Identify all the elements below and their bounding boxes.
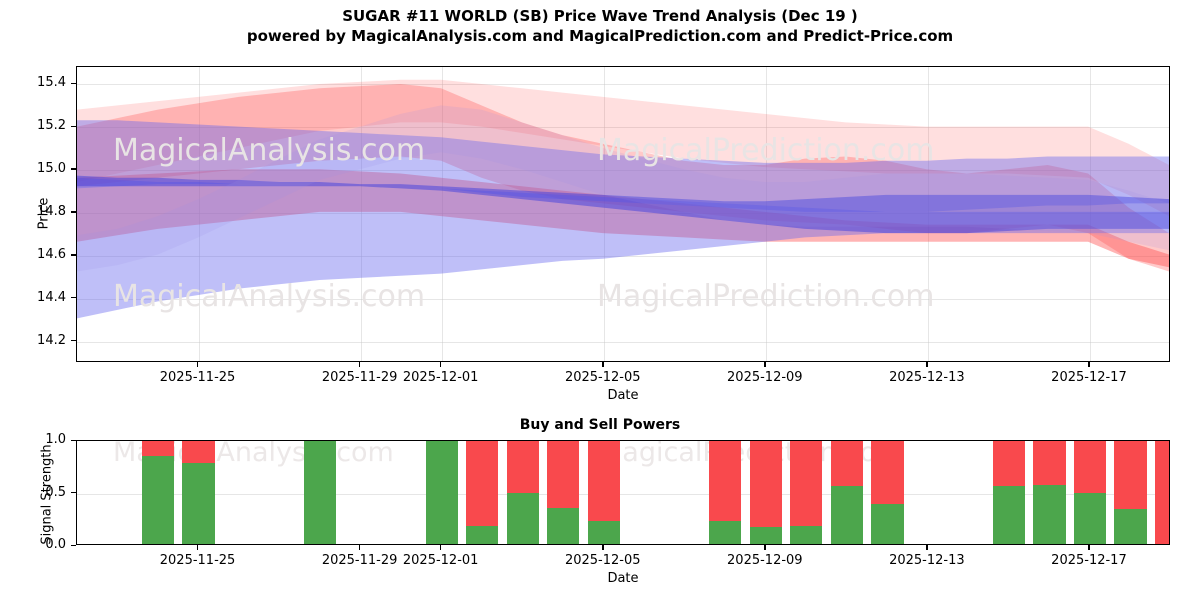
buy-power-segment bbox=[304, 440, 336, 544]
power-bar[interactable] bbox=[871, 440, 903, 544]
x-tick-mark bbox=[359, 362, 360, 367]
power-bar[interactable] bbox=[466, 440, 498, 544]
y-tick-label: 15.2 bbox=[8, 118, 66, 133]
sell-power-segment bbox=[588, 440, 620, 521]
sell-power-segment bbox=[142, 440, 174, 456]
power-bar[interactable] bbox=[750, 440, 782, 544]
power-x-axis-title: Date bbox=[523, 571, 723, 586]
x-tick-mark bbox=[440, 545, 441, 550]
sell-power-segment bbox=[507, 440, 539, 493]
power-bar[interactable] bbox=[709, 440, 741, 544]
y-tick-mark bbox=[71, 340, 76, 341]
sell-power-segment bbox=[871, 440, 903, 504]
y-tick-mark bbox=[71, 492, 76, 493]
x-tick-mark bbox=[197, 545, 198, 550]
y-tick-label: 0.5 bbox=[8, 485, 66, 500]
x-tick-label: 2025-12-05 bbox=[543, 370, 663, 385]
y-tick-label: 1.0 bbox=[8, 432, 66, 447]
y-tick-label: 14.2 bbox=[8, 333, 66, 348]
sell-power-segment bbox=[547, 440, 579, 508]
buy-power-segment bbox=[588, 521, 620, 544]
x-tick-mark bbox=[764, 362, 765, 367]
x-tick-label: 2025-11-25 bbox=[138, 370, 258, 385]
y-tick-mark bbox=[71, 254, 76, 255]
x-tick-mark bbox=[440, 362, 441, 367]
price-y-axis-title: Price bbox=[37, 164, 52, 264]
chart-title: SUGAR #11 WORLD (SB) Price Wave Trend An… bbox=[0, 6, 1200, 26]
price-wave-plot: MagicalAnalysis.com MagicalPrediction.co… bbox=[76, 66, 1170, 362]
x-tick-label: 2025-12-09 bbox=[705, 553, 825, 568]
y-tick-mark bbox=[71, 297, 76, 298]
buy-power-segment bbox=[1033, 485, 1065, 544]
power-bar[interactable] bbox=[1155, 440, 1170, 544]
x-tick-label: 2025-12-17 bbox=[1029, 553, 1149, 568]
power-bar[interactable] bbox=[304, 440, 336, 544]
sell-power-segment bbox=[1114, 440, 1146, 509]
buy-sell-powers-plot: MagicalAnalysis.com MagicalPrediction.co… bbox=[76, 440, 1170, 545]
buy-power-segment bbox=[750, 527, 782, 544]
buy-power-segment bbox=[182, 463, 214, 544]
x-tick-label: 2025-12-13 bbox=[867, 370, 987, 385]
y-tick-mark bbox=[71, 168, 76, 169]
price-x-axis-title: Date bbox=[523, 388, 723, 403]
y-tick-label: 15.4 bbox=[8, 75, 66, 90]
x-tick-mark bbox=[602, 362, 603, 367]
chart-title-block: SUGAR #11 WORLD (SB) Price Wave Trend An… bbox=[0, 6, 1200, 46]
buy-power-segment bbox=[831, 486, 863, 544]
power-chart-title: Buy and Sell Powers bbox=[0, 417, 1200, 433]
x-tick-label: 2025-12-01 bbox=[381, 553, 501, 568]
power-bar[interactable] bbox=[831, 440, 863, 544]
sell-power-segment bbox=[790, 440, 822, 526]
power-bar[interactable] bbox=[547, 440, 579, 544]
x-tick-mark bbox=[602, 545, 603, 550]
x-tick-label: 2025-12-01 bbox=[381, 370, 501, 385]
x-tick-mark bbox=[1088, 545, 1089, 550]
buy-power-segment bbox=[1114, 509, 1146, 544]
power-bar[interactable] bbox=[426, 440, 458, 544]
x-tick-mark bbox=[926, 545, 927, 550]
sell-power-segment bbox=[1155, 440, 1170, 544]
power-bar[interactable] bbox=[588, 440, 620, 544]
power-bar[interactable] bbox=[790, 440, 822, 544]
buy-power-segment bbox=[993, 486, 1025, 544]
sell-power-segment bbox=[993, 440, 1025, 486]
x-tick-mark bbox=[926, 362, 927, 367]
x-tick-label: 2025-11-25 bbox=[138, 553, 258, 568]
y-tick-mark bbox=[71, 126, 76, 127]
sell-power-segment bbox=[182, 440, 214, 463]
buy-power-segment bbox=[1074, 493, 1106, 544]
x-tick-label: 2025-12-05 bbox=[543, 553, 663, 568]
power-bar[interactable] bbox=[507, 440, 539, 544]
buy-power-segment bbox=[709, 521, 741, 544]
buy-power-segment bbox=[871, 504, 903, 544]
buy-power-segment bbox=[426, 440, 458, 544]
sell-power-segment bbox=[1033, 440, 1065, 485]
y-tick-mark bbox=[71, 545, 76, 546]
x-tick-label: 2025-12-13 bbox=[867, 553, 987, 568]
y-tick-mark bbox=[71, 83, 76, 84]
x-tick-mark bbox=[764, 545, 765, 550]
chart-page: SUGAR #11 WORLD (SB) Price Wave Trend An… bbox=[0, 0, 1200, 600]
buy-power-segment bbox=[790, 526, 822, 544]
buy-power-segment bbox=[466, 526, 498, 544]
x-tick-label: 2025-12-17 bbox=[1029, 370, 1149, 385]
buy-power-segment bbox=[142, 456, 174, 544]
sell-power-segment bbox=[709, 440, 741, 521]
sell-power-segment bbox=[831, 440, 863, 486]
power-bar[interactable] bbox=[1114, 440, 1146, 544]
power-bar[interactable] bbox=[182, 440, 214, 544]
sell-power-segment bbox=[466, 440, 498, 526]
price-wave-bands bbox=[77, 67, 1169, 361]
power-bar[interactable] bbox=[142, 440, 174, 544]
y-tick-label: 14.4 bbox=[8, 290, 66, 305]
x-tick-label: 2025-12-09 bbox=[705, 370, 825, 385]
buy-power-segment bbox=[547, 508, 579, 544]
chart-subtitle: powered by MagicalAnalysis.com and Magic… bbox=[0, 26, 1200, 46]
power-bar[interactable] bbox=[1033, 440, 1065, 544]
sell-power-segment bbox=[1074, 440, 1106, 493]
sell-power-segment bbox=[750, 440, 782, 527]
x-tick-mark bbox=[1088, 362, 1089, 367]
power-bar[interactable] bbox=[1074, 440, 1106, 544]
power-y-axis-title: Signal Strength bbox=[40, 425, 55, 565]
y-tick-mark bbox=[71, 211, 76, 212]
y-tick-mark bbox=[71, 440, 76, 441]
y-tick-label: 0.0 bbox=[8, 537, 66, 552]
buy-power-segment bbox=[507, 493, 539, 544]
x-tick-mark bbox=[197, 362, 198, 367]
x-tick-mark bbox=[359, 545, 360, 550]
power-bar[interactable] bbox=[993, 440, 1025, 544]
